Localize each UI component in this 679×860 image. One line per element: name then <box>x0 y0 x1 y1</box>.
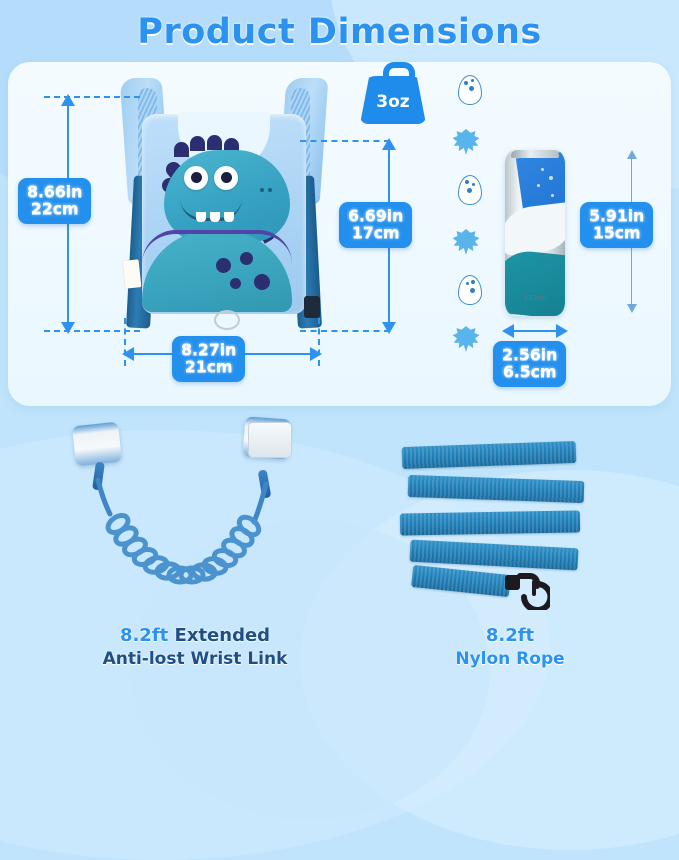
wrist-link-line1-rest: Extended <box>175 625 271 646</box>
rope-strand <box>400 510 580 535</box>
can-bubble <box>541 168 544 171</box>
rope-strand <box>410 540 579 571</box>
dino-face <box>164 150 290 242</box>
wrist-link-line2: Anti-lost Wrist Link <box>45 648 345 670</box>
width-arrow-right <box>310 347 322 361</box>
depth-arrow-up <box>382 138 396 150</box>
badge-can-width: 2.56in 6.5cm <box>493 341 566 387</box>
dino-eye-left <box>184 166 208 190</box>
can-bubble <box>551 194 554 197</box>
swivel-clip-icon <box>504 566 550 610</box>
rope-strand <box>408 475 585 503</box>
can-width-arrow-left <box>502 324 514 338</box>
depth-arrow-down <box>382 322 396 334</box>
beverage-can-illustration: 333ml <box>505 150 565 316</box>
can-height-arrow-down <box>627 304 637 313</box>
chest-buckle <box>304 296 320 318</box>
nylon-rope-length: 8.2ft <box>385 624 635 648</box>
dino-tooth <box>196 212 206 222</box>
wrist-link-illustration <box>48 418 328 608</box>
rope-tail <box>411 565 511 597</box>
guide-line-depth-bottom <box>300 330 390 332</box>
egg-shape <box>458 175 482 205</box>
dino-nostril <box>268 188 272 192</box>
can-teal-wave <box>505 248 565 316</box>
guide-line-depth-top <box>300 140 390 142</box>
height-arrow-up <box>61 94 75 106</box>
egg-icon <box>455 75 483 105</box>
leaf-icon <box>452 325 480 355</box>
egg-icon <box>455 175 483 205</box>
badge-backpack-width: 8.27in 21cm <box>172 336 245 382</box>
leaf-icon <box>452 228 480 258</box>
infographic-canvas: Product Dimensions <box>0 0 679 679</box>
weight-value: 3oz <box>360 92 426 112</box>
wrist-link-line1: 8.2ft Extended <box>45 624 345 648</box>
can-volume-label: 333ml <box>505 294 565 302</box>
dino-tooth <box>210 212 220 222</box>
rope-strand <box>402 441 577 469</box>
egg-shape <box>458 75 482 105</box>
pocket-dot <box>254 274 270 290</box>
can-bubble <box>549 176 553 180</box>
leaf-icon <box>452 128 480 158</box>
nylon-rope-illustration <box>398 430 588 610</box>
dino-spike <box>190 136 205 151</box>
pocket-dot <box>230 278 241 289</box>
caption-wrist-link: 8.2ft Extended Anti-lost Wrist Link <box>45 624 345 670</box>
dino-nostril <box>260 188 264 192</box>
weight-badge: 3oz <box>360 62 426 124</box>
dino-pupil-right <box>221 172 232 183</box>
can-width-line <box>512 330 558 332</box>
guide-line-top <box>44 96 140 98</box>
can-white-wave <box>505 202 565 257</box>
pocket-dot <box>216 258 231 273</box>
can-width-arrow-right <box>556 324 568 338</box>
badge-can-height: 5.91in 15cm <box>580 202 653 248</box>
dino-spike <box>174 142 189 157</box>
care-tag <box>123 259 142 289</box>
can-height-arrow-up <box>627 150 637 159</box>
leaf-shape <box>452 326 480 353</box>
height-arrow-down <box>61 322 75 334</box>
pocket-zipper <box>142 230 292 264</box>
caption-nylon-rope: 8.2ft Nylon Rope <box>385 624 635 670</box>
leaf-shape <box>452 229 480 256</box>
d-ring <box>214 310 240 330</box>
backpack-illustration <box>118 78 330 330</box>
badge-backpack-height: 8.66in 22cm <box>18 178 91 224</box>
leaf-shape <box>452 129 480 156</box>
badge-backpack-depth: 6.69in 17cm <box>339 202 412 248</box>
dino-eye-right <box>214 166 238 190</box>
dino-pupil-left <box>191 172 202 183</box>
egg-icon <box>455 275 483 305</box>
page-title: Product Dimensions <box>0 12 679 52</box>
dino-spike <box>207 135 222 150</box>
dino-tooth <box>224 212 234 222</box>
wrist-link-length: 8.2ft <box>120 625 168 646</box>
can-bubble <box>537 184 540 187</box>
coiled-cord <box>48 418 328 608</box>
width-arrow-left <box>122 347 134 361</box>
egg-shape <box>458 275 482 305</box>
pocket-dot <box>240 252 253 265</box>
nylon-rope-line2: Nylon Rope <box>385 648 635 670</box>
can-lid <box>511 150 559 158</box>
